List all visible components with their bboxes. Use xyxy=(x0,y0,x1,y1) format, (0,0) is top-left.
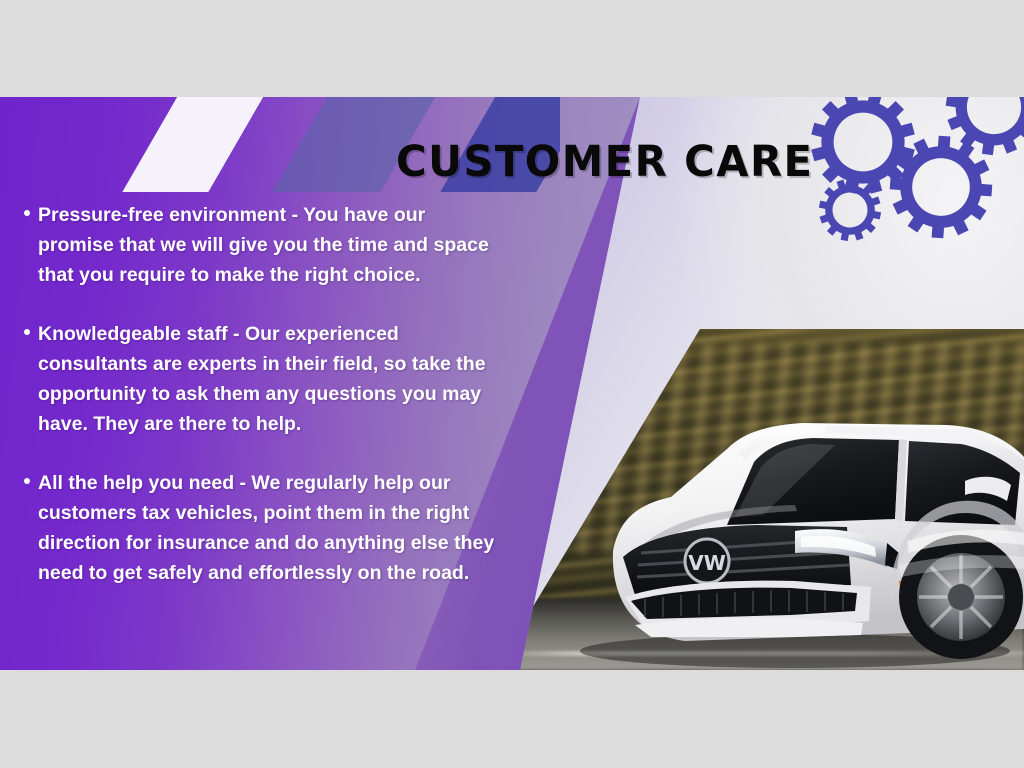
list-item-text: All the help you need - We regularly hel… xyxy=(38,468,502,588)
svg-text:VW: VW xyxy=(688,551,726,575)
bullet-marker-icon xyxy=(16,468,38,484)
screenshot-canvas: VW xyxy=(0,0,1024,768)
bullet-list: Pressure-free environment - You have our… xyxy=(16,200,502,588)
list-item: Knowledgeable staff - Our experienced co… xyxy=(16,319,502,439)
bullet-marker-icon xyxy=(16,200,38,216)
list-item: Pressure-free environment - You have our… xyxy=(16,200,502,290)
bullet-marker-icon xyxy=(16,319,38,335)
page-title: CUSTOMER CARE xyxy=(396,137,813,187)
list-item-text: Knowledgeable staff - Our experienced co… xyxy=(38,319,502,439)
list-item-text: Pressure-free environment - You have our… xyxy=(38,200,502,290)
presentation-slide: VW xyxy=(0,97,1024,670)
list-item: All the help you need - We regularly hel… xyxy=(16,468,502,588)
